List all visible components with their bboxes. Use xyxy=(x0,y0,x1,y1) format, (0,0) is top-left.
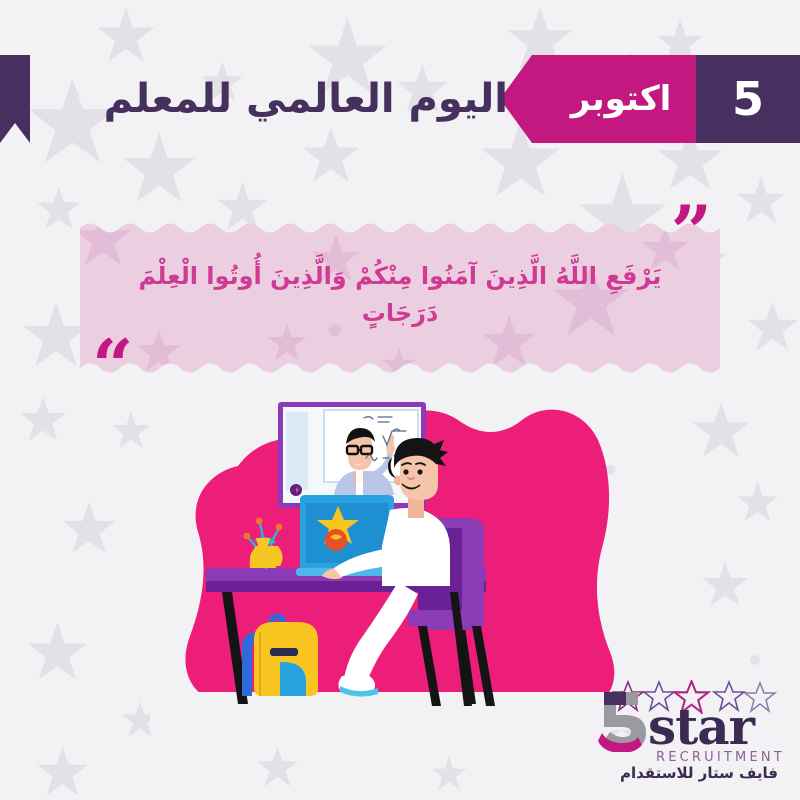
quote-verse-text: يَرْفَعِ اللَّهُ الَّذِينَ آمَنُوا مِنْك… xyxy=(80,250,720,340)
logo-arabic-name: فايف ستار للاستقدام xyxy=(620,764,778,782)
date-month-label: اكتوبر xyxy=(546,55,696,143)
quote-open-mark: “ xyxy=(92,330,133,402)
date-day-number: 5 xyxy=(696,55,800,143)
quote-verse-line: يَرْفَعِ اللَّهُ الَّذِينَ آمَنُوا مِنْك… xyxy=(116,258,684,332)
quote-close-mark: ” xyxy=(671,196,712,268)
header-left-accent-block xyxy=(0,55,30,143)
poster-card: يَرْفَعِ اللَّهُ الَّذِينَ آمَنُوا مِنْك… xyxy=(0,0,800,800)
company-logo: star RECRUITMENT فايف ستار للاستقدام xyxy=(590,680,780,778)
logo-subtitle: RECRUITMENT xyxy=(656,750,785,765)
logo-number-five-graphic xyxy=(590,690,656,752)
logo-word-star: star xyxy=(648,702,754,752)
page-title: اليوم العالمي للمعلم xyxy=(104,55,508,143)
